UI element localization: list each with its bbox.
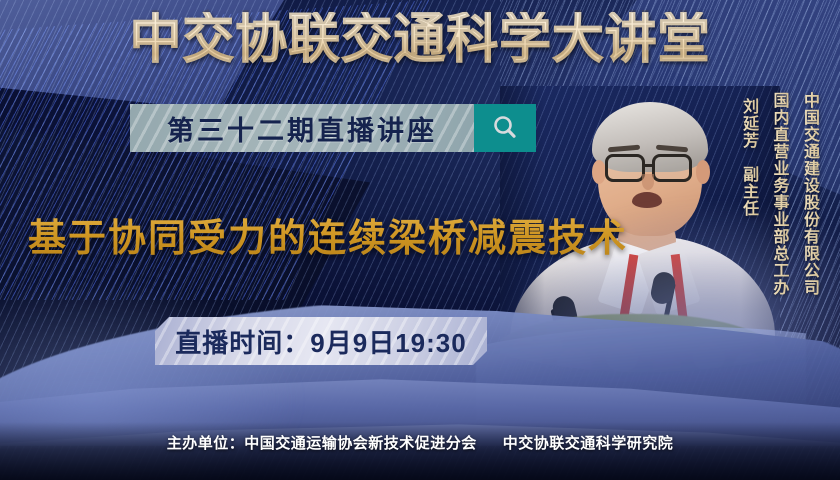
footer-organizers: 主办单位：中国交通运输协会新技术促进分会中交协联交通科学研究院 (0, 432, 840, 453)
speaker-glasses-right-lens (652, 154, 692, 182)
lecture-headline: 基于协同受力的连续梁桥减震技术 (28, 207, 628, 262)
episode-bar-body: 第三十二期直播讲座 (130, 104, 474, 152)
page-title: 中交协联交通科学大讲堂 (17, 12, 823, 66)
episode-label: 第三十二期直播讲座 (167, 109, 437, 148)
speaker-name-role: 刘延芳 副主任 (733, 92, 763, 217)
footer-prefix: 主办单位： (167, 435, 245, 452)
speaker-glasses-bridge (644, 164, 654, 167)
episode-bar: 第三十二期直播讲座 (130, 104, 536, 152)
speaker-name: 刘延芳 (740, 98, 757, 149)
speaker-glasses-left-lens (605, 154, 645, 182)
speaker-organization: 中国交通建设股份有限公司 (794, 92, 824, 296)
speaker-credit-block: 刘延芳 副主任 国内直营业务事业部总工办 中国交通建设股份有限公司 (733, 92, 824, 296)
speaker-department: 国内直营业务事业部总工办 (763, 92, 793, 296)
footer-organizer-2: 中交协联交通科学研究院 (503, 435, 674, 452)
speaker-role: 副主任 (740, 166, 757, 217)
footer-organizer-1: 中国交通运输协会新技术促进分会 (244, 435, 477, 452)
speaker-ear-left (592, 160, 606, 184)
search-icon (490, 113, 520, 143)
search-icon-button[interactable] (474, 104, 536, 152)
speaker-nose (642, 174, 654, 190)
broadcast-time-text: 直播时间：9月9日19:30 (175, 323, 466, 360)
live-stream-poster: 中交协联交通科学大讲堂 第三十二期直播讲座 基于协同受力的连续梁桥减震技术 直播… (0, 0, 840, 480)
broadcast-time-box: 直播时间：9月9日19:30 (155, 317, 487, 365)
speaker-ear-right (696, 160, 710, 184)
